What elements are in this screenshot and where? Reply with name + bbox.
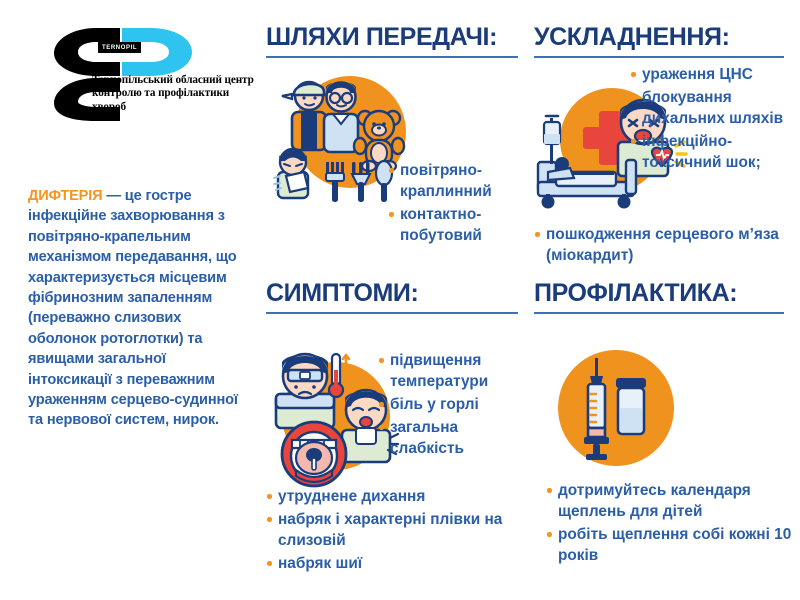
- ternopil-badge: TERNOPIL: [98, 42, 141, 53]
- list-item: інфекційно-токсичний шок;: [630, 131, 800, 173]
- transmission-list: повітряно-краплинний контактно-побутовий: [388, 160, 534, 248]
- list-item: утруднене дихання: [266, 486, 534, 507]
- list-item: набряк і характерні плівки на слизовій: [266, 509, 534, 551]
- list-item: набряк шиї: [266, 553, 534, 574]
- children-toy-cutlery-sneeze-icon: [270, 66, 406, 208]
- panel-prevention-title: ПРОФІЛАКТИКА:: [534, 278, 800, 308]
- panel-transmission: ШЛЯХИ ПЕРЕДАЧІ:: [266, 22, 534, 278]
- panel-complications-rule: [534, 56, 784, 58]
- infographic-page: TERNOPIL Тернопільський обласний центр к…: [0, 0, 800, 600]
- list-item: підвищення температури: [378, 350, 534, 392]
- list-item: загальна слабкість: [378, 417, 534, 459]
- prevention-list: дотримуйтесь календаря щеплень для дітей…: [546, 480, 800, 568]
- list-item: повітряно-краплинний: [388, 160, 534, 202]
- list-item: блокування дихальних шляхів: [630, 87, 800, 129]
- list-item: робіть щеплення собі кожні 10 років: [546, 524, 800, 566]
- panel-complications-title: УСКЛАДНЕННЯ:: [534, 22, 800, 52]
- panel-complications: УСКЛАДНЕННЯ:: [534, 22, 800, 278]
- left-column: TERNOPIL Тернопільський обласний центр к…: [0, 0, 262, 600]
- logo-caption: Тернопільський обласний центр контролю т…: [92, 74, 262, 114]
- list-item: дотримуйтесь календаря щеплень для дітей: [546, 480, 800, 522]
- syringe-vaccine-vial-icon: [556, 348, 668, 460]
- intro-paragraph: ДИФТЕРІЯ — це гостре інфекційне захворюв…: [28, 186, 246, 431]
- symptoms-list-wide: утруднене дихання набряк і характерні пл…: [266, 486, 534, 576]
- list-item: пошкодження серцевого м’яза (міокардит): [534, 224, 800, 266]
- list-item: контактно-побутовий: [388, 204, 534, 246]
- panel-symptoms-title: СИМПТОМИ:: [266, 278, 534, 308]
- intro-highlight: ДИФТЕРІЯ: [28, 188, 103, 204]
- panel-transmission-title: ШЛЯХИ ПЕРЕДАЧІ:: [266, 22, 534, 52]
- symptoms-list: підвищення температури біль у горлі зага…: [378, 350, 534, 461]
- panel-prevention: ПРОФІЛАКТИКА:: [534, 278, 800, 578]
- panel-symptoms: СИМПТОМИ:: [266, 278, 534, 578]
- panel-transmission-rule: [266, 56, 518, 58]
- list-item: ураження ЦНС: [630, 64, 800, 85]
- list-item: біль у горлі: [378, 394, 534, 415]
- panel-prevention-rule: [534, 312, 784, 314]
- intro-rest: — це гостре інфекційне захворювання з по…: [28, 188, 238, 428]
- complications-list: ураження ЦНС блокування дихальних шляхів…: [630, 64, 800, 175]
- organization-logo: TERNOPIL Тернопільський обласний центр к…: [52, 26, 262, 136]
- panel-symptoms-rule: [266, 312, 518, 314]
- complications-list-wide: пошкодження серцевого м’яза (міокардит): [534, 224, 800, 268]
